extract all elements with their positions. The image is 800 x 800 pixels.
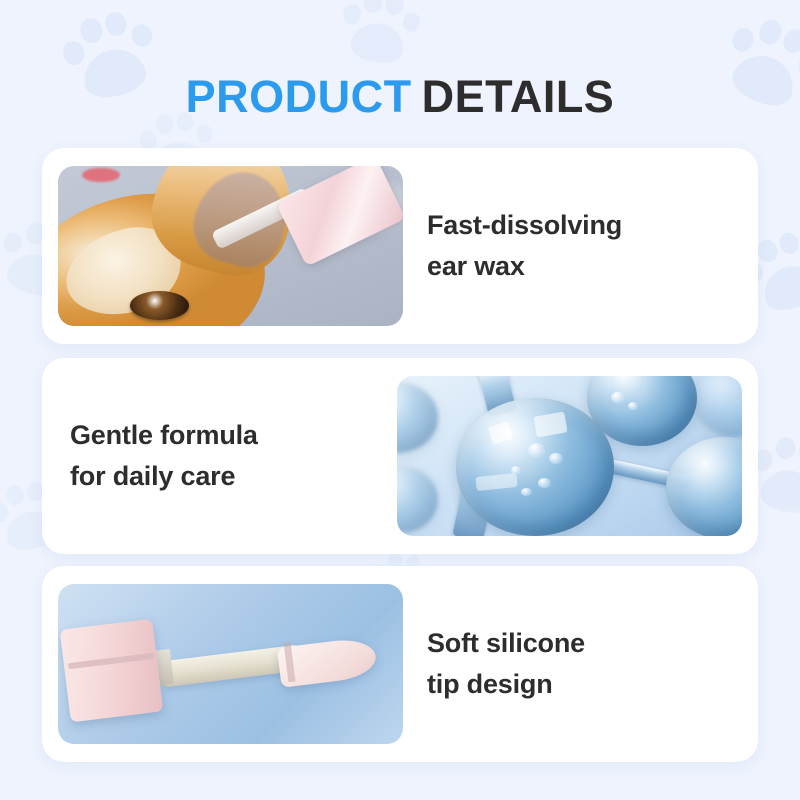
corgi-ear-cleaning-photo: [58, 166, 403, 326]
caption-line: Fast-dissolving: [427, 205, 738, 246]
caption-line: tip design: [427, 664, 738, 705]
page-title-plain: DETAILS: [422, 71, 615, 122]
feature-card-3[interactable]: Soft silicone tip design: [42, 566, 758, 762]
caption-line: for daily care: [70, 456, 373, 497]
product-details-page: PRODUCTDETAILS Fast-dissolving ear wax: [0, 0, 800, 800]
caption-line: Soft silicone: [427, 623, 738, 664]
caption-line: Gentle formula: [70, 415, 373, 456]
feature-card-3-caption: Soft silicone tip design: [419, 623, 758, 705]
molecule-spheres-photo: [397, 376, 742, 536]
page-title: PRODUCTDETAILS: [0, 74, 800, 119]
feature-card-1-caption: Fast-dissolving ear wax: [419, 205, 758, 287]
feature-card-2[interactable]: Gentle formula for daily care: [42, 358, 758, 554]
feature-card-1[interactable]: Fast-dissolving ear wax: [42, 148, 758, 344]
feature-card-2-caption: Gentle formula for daily care: [42, 415, 381, 497]
paw-print-icon: [332, 0, 428, 80]
caption-line: ear wax: [427, 246, 738, 287]
silicone-dropper-photo: [58, 584, 403, 744]
page-title-accent: PRODUCT: [186, 71, 412, 122]
